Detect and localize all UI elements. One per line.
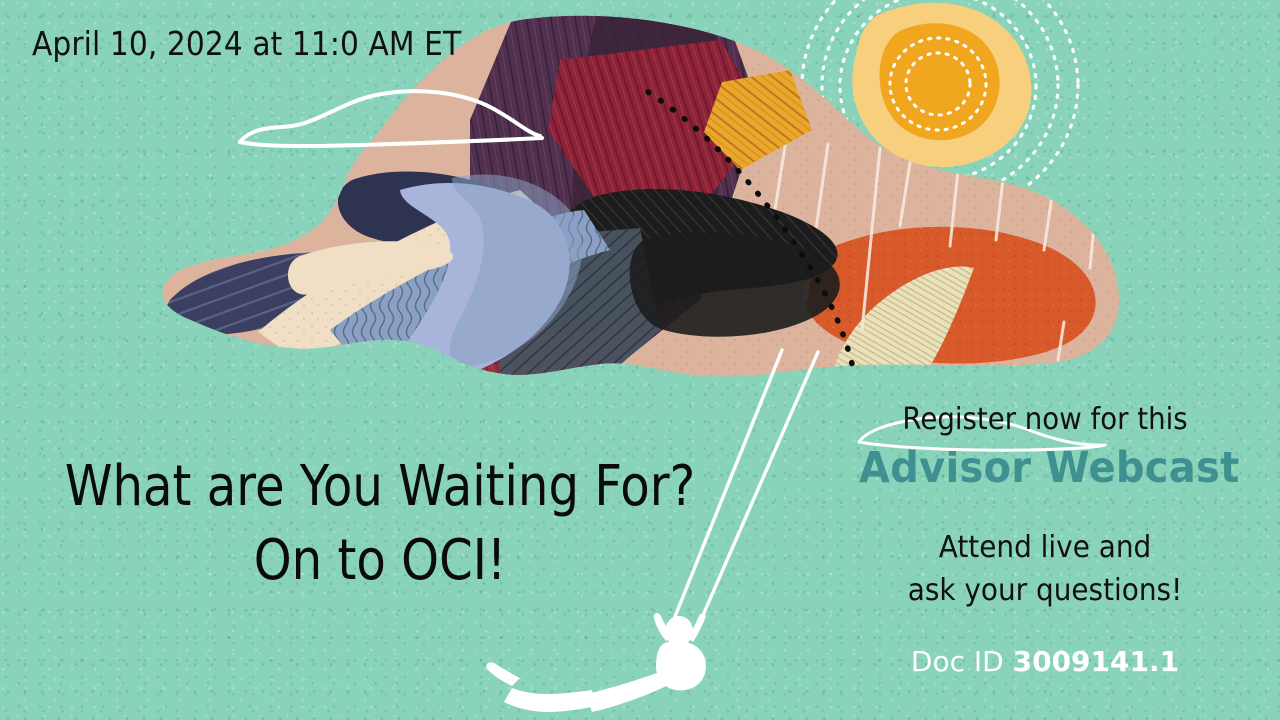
page-title: What are You Waiting For? On to OCI! bbox=[0, 450, 760, 599]
attend-callout: Attend live and ask your questions! bbox=[845, 527, 1245, 612]
doc-id-label: Doc ID bbox=[911, 645, 1013, 678]
headline-line-1: What are You Waiting For? bbox=[53, 450, 707, 524]
webcast-datetime: April 10, 2024 at 11:0 AM ET bbox=[32, 24, 461, 63]
doodle-cloud-icon bbox=[240, 91, 542, 146]
attend-line-2: ask your questions! bbox=[859, 570, 1231, 613]
headline-line-2: On to OCI! bbox=[53, 524, 707, 598]
attend-line-1: Attend live and bbox=[859, 527, 1231, 570]
poster-canvas: April 10, 2024 at 11:0 AM ET What are Yo… bbox=[0, 0, 1280, 720]
swing-figure-icon bbox=[486, 613, 706, 712]
register-eyebrow: Register now for this bbox=[902, 402, 1187, 437]
doc-id-number: 3009141.1 bbox=[1013, 645, 1180, 678]
register-callout: Register now for this Advisor Webcast bbox=[845, 402, 1245, 493]
dotted-curve bbox=[648, 92, 852, 364]
sun-graphic bbox=[802, 0, 1078, 215]
doc-id: Doc ID 3009141.1 bbox=[845, 645, 1245, 678]
